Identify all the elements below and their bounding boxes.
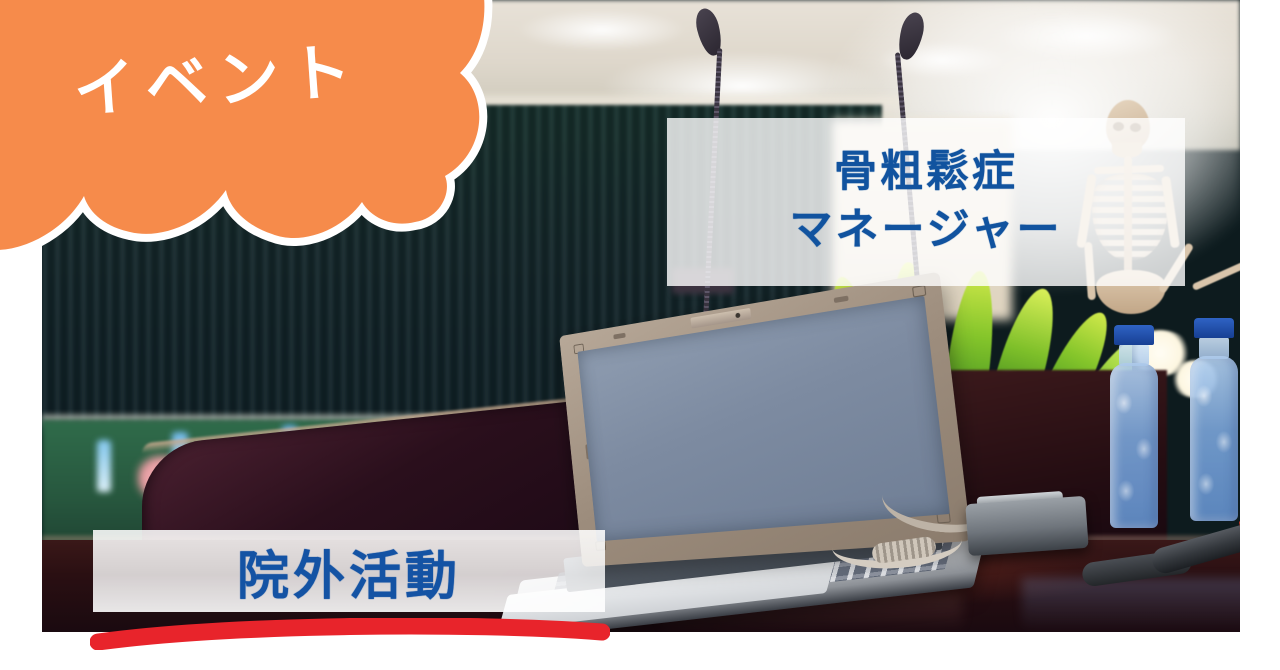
background-bottle (97, 440, 111, 492)
title-band: 骨粗鬆症 マネージャー (667, 118, 1185, 286)
title-line-2: マネージャー (790, 204, 1063, 258)
subtitle-band: 院外活動 (93, 530, 605, 612)
red-underline-swoosh (90, 618, 610, 650)
banner-canvas: イベント 骨粗鬆症 マネージャー 院外活動 (0, 0, 1280, 670)
table-reflection (1022, 578, 1240, 632)
subtitle-text: 院外活動 (237, 534, 461, 609)
title-line-1: 骨粗鬆症 (834, 146, 1018, 200)
microphone-base (965, 496, 1088, 556)
